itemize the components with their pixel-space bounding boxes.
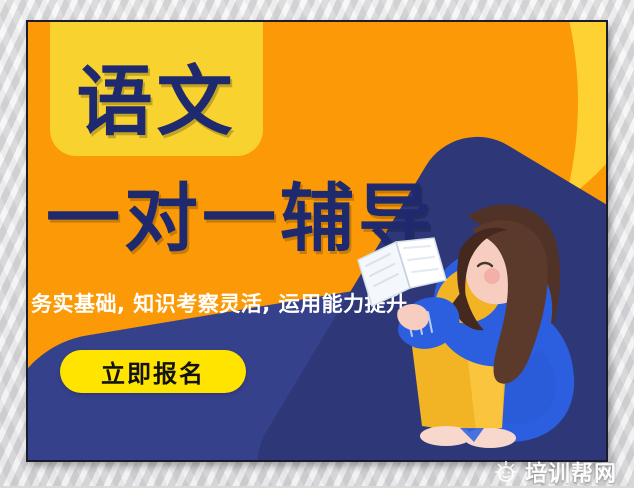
subject-badge: 语文 — [50, 22, 263, 156]
woman-reading-book-illustration — [350, 180, 600, 460]
banner-stage: 语文 一对一辅导 务实基础, 知识考察灵活, 运用能力提升 立即报名 — [28, 22, 606, 460]
image-frame: 语文 一对一辅导 务实基础, 知识考察灵活, 运用能力提升 立即报名 — [0, 0, 634, 486]
cheek-blush — [484, 268, 500, 284]
watermark-label: 培训帮网 — [525, 456, 617, 488]
enroll-now-button[interactable]: 立即报名 — [60, 350, 246, 393]
watermark: 培训帮网 — [494, 456, 617, 488]
sun-smiley-icon — [494, 460, 518, 484]
open-book — [358, 238, 446, 306]
course-promo-banner: 语文 一对一辅导 务实基础, 知识考察灵活, 运用能力提升 立即报名 — [26, 20, 608, 462]
enroll-now-label: 立即报名 — [101, 354, 205, 389]
subject-badge-label: 语文 — [77, 64, 237, 140]
